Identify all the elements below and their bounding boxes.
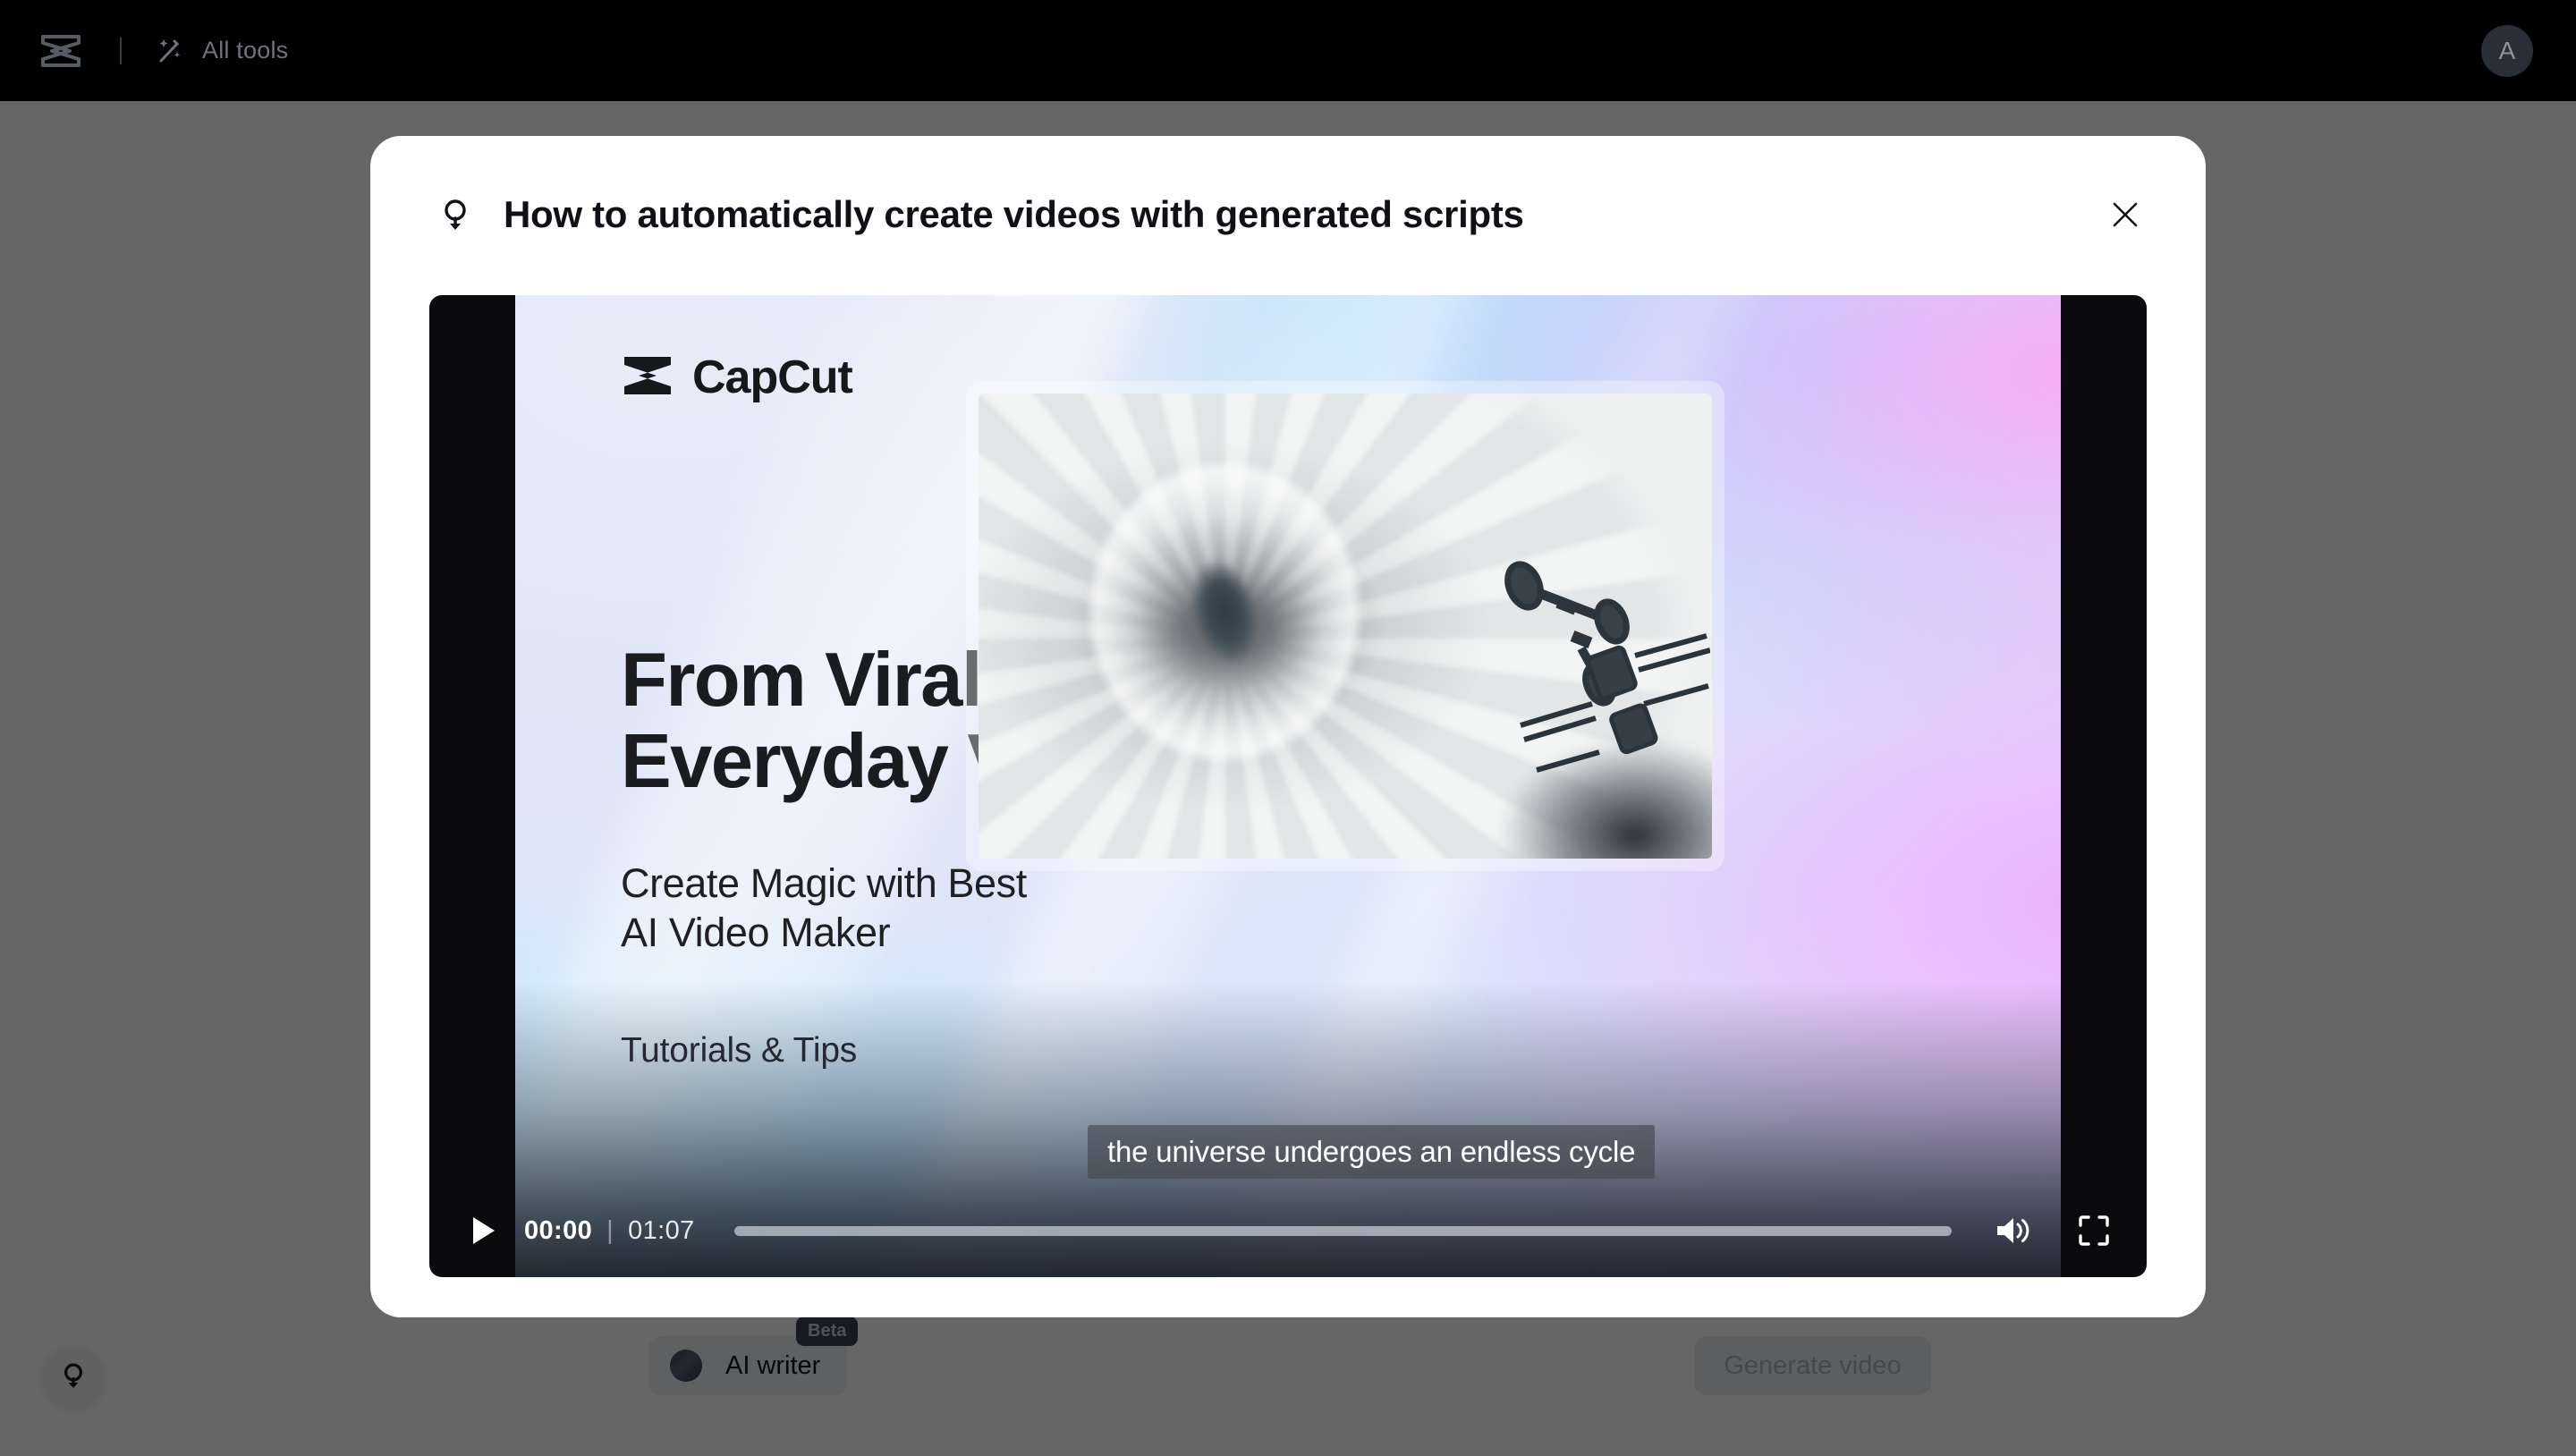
progress-scrubber[interactable] bbox=[734, 1226, 1952, 1236]
fullscreen-icon[interactable] bbox=[2066, 1203, 2122, 1258]
player-controls: 00:00 | 01:07 bbox=[429, 1184, 2147, 1277]
video-frame: CapCut From Viral Ads to Everyday Videos… bbox=[515, 295, 2061, 1277]
iss-station-icon bbox=[1424, 550, 1710, 818]
capcut-web-app: All tools A AI writer Beta Generate vide… bbox=[0, 0, 2576, 1456]
top-navigation-bar: All tools A bbox=[0, 0, 2576, 101]
time-separator: | bbox=[606, 1216, 614, 1246]
current-time: 00:00 bbox=[524, 1216, 592, 1246]
close-icon[interactable] bbox=[2104, 193, 2147, 236]
video-player[interactable]: CapCut From Viral Ads to Everyday Videos… bbox=[429, 295, 2147, 1277]
hurricane-from-space-photo bbox=[979, 394, 1712, 859]
all-tools-label: All tools bbox=[202, 37, 288, 64]
video-brand-word: CapCut bbox=[692, 351, 852, 404]
video-subtitle-caption: the universe undergoes an endless cycle bbox=[1088, 1125, 1655, 1179]
all-tools-button[interactable]: All tools bbox=[156, 36, 288, 66]
video-brand-lockup: CapCut bbox=[621, 351, 852, 404]
topbar-divider bbox=[120, 38, 122, 64]
time-readout: 00:00 | 01:07 bbox=[524, 1216, 695, 1246]
avatar-initial: A bbox=[2499, 37, 2516, 65]
play-icon[interactable] bbox=[456, 1203, 512, 1258]
capcut-logo-icon bbox=[621, 354, 674, 402]
lightbulb-icon bbox=[437, 195, 473, 234]
volume-on-icon[interactable] bbox=[1984, 1203, 2039, 1258]
avatar[interactable]: A bbox=[2481, 25, 2533, 77]
modal-title: How to automatically create videos with … bbox=[504, 193, 1524, 236]
tutorial-video-modal: How to automatically create videos with … bbox=[370, 136, 2206, 1317]
magic-wand-icon bbox=[156, 36, 186, 66]
video-footnote: Tutorials & Tips bbox=[621, 1031, 857, 1071]
video-subheadline: Create Magic with Best AI Video Maker bbox=[621, 859, 1027, 958]
capcut-logo-icon[interactable] bbox=[38, 32, 84, 70]
total-time: 01:07 bbox=[628, 1216, 695, 1246]
modal-header: How to automatically create videos with … bbox=[370, 136, 2206, 292]
topbar-left-group: All tools bbox=[0, 32, 288, 70]
